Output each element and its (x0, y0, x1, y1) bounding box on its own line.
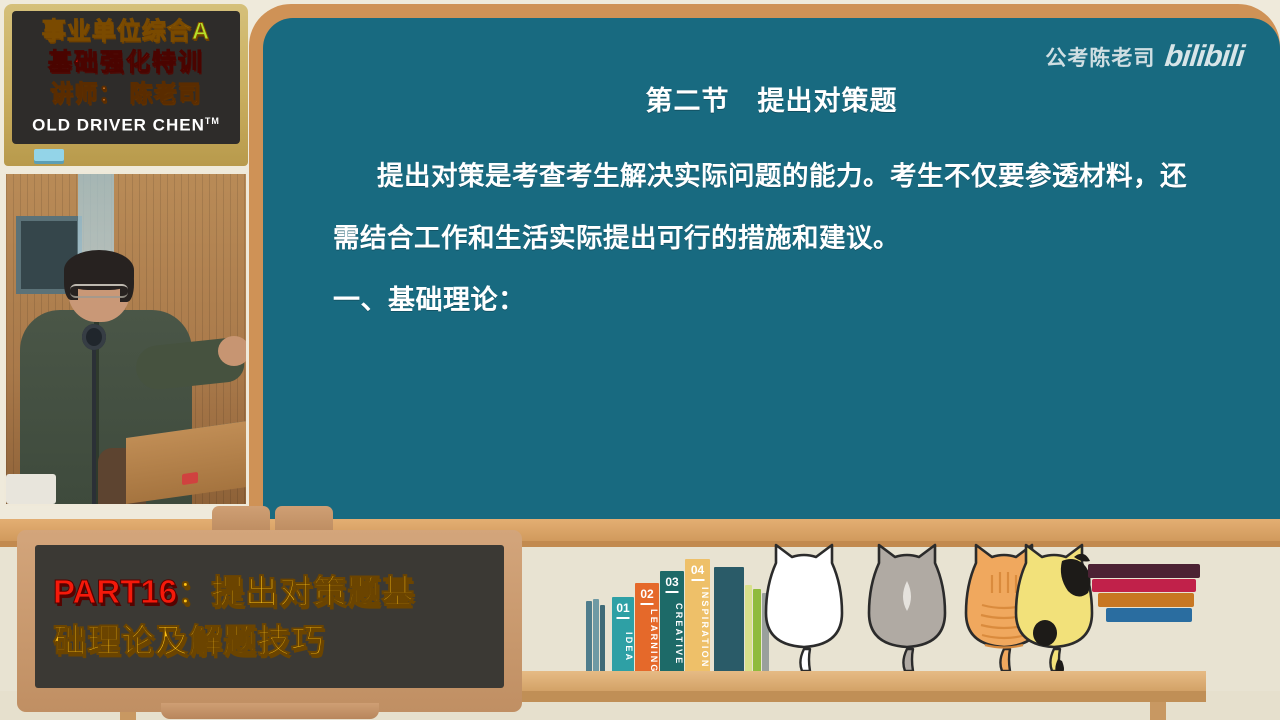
microphone-stand (92, 342, 96, 506)
book-rule (666, 591, 679, 593)
banner-course-name: 事业单位综合 (42, 18, 192, 45)
book-title: INSPIRATION (700, 587, 710, 669)
thin-book (600, 605, 605, 671)
book-stack (1088, 0, 1208, 671)
banner-surface: 事业单位综合A 基础强化特训 讲师： 陈老司 OLD DRIVER CHENTM (12, 11, 240, 144)
chalkboard-line-1-rest: 提出对策题基 (211, 573, 415, 610)
gray-cat (865, 541, 949, 671)
banner-line-1: 事业单位综合A (42, 17, 210, 47)
white-cat (762, 541, 846, 671)
chalkboard-colon: ： (177, 573, 211, 610)
instructor-glasses (70, 284, 128, 298)
instructor-hand (218, 336, 248, 366)
chalkboard-line-1: PART16：提出对策题基 (53, 567, 504, 616)
thin-book (714, 567, 744, 671)
chalkboard-part-label: PART16 (53, 573, 177, 610)
book-title: LEARNING (649, 609, 659, 674)
thin-book (753, 589, 761, 671)
thin-book (586, 601, 592, 671)
webcam-paper (6, 474, 56, 504)
book-number: 04 (691, 563, 704, 577)
stacked-book (1088, 564, 1200, 578)
book-number: 03 (665, 575, 678, 589)
instructor-webcam (4, 172, 248, 506)
microphone-icon (82, 324, 106, 350)
banner-line-3: 讲师： 陈老司 (50, 78, 201, 109)
shelf-book: 04INSPIRATION (685, 559, 710, 671)
topic-chalkboard: PART16：提出对策题基 础理论及解题技巧 (17, 530, 522, 712)
shelf-book: 01IDEA (612, 597, 634, 671)
banner-course-grade: A (192, 18, 210, 45)
calico-cat (1012, 541, 1096, 671)
course-banner: 事业单位综合A 基础强化特训 讲师： 陈老司 OLD DRIVER CHENTM (4, 4, 248, 166)
thin-book (745, 585, 752, 671)
banner-line-4: OLD DRIVER CHENTM (32, 109, 220, 138)
stacked-book (1092, 579, 1196, 592)
chalkboard-line-2: 础理论及解题技巧 (53, 616, 504, 665)
book-rule (691, 579, 704, 581)
eraser-icon (34, 149, 64, 161)
desk-leg-right (1150, 702, 1166, 720)
shelf-book: 02LEARNING (635, 583, 659, 671)
book-number: 01 (616, 601, 629, 615)
webcam-podium-badge (182, 472, 198, 485)
chalkboard-surface: PART16：提出对策题基 础理论及解题技巧 (35, 545, 504, 688)
book-number: 02 (640, 587, 653, 601)
shelf-book: 03CREATIVE (660, 571, 684, 671)
book-rule (617, 617, 630, 619)
thin-book (593, 599, 599, 671)
book-title: IDEA (624, 632, 634, 662)
book-rule (641, 603, 654, 605)
banner-english-name: OLD DRIVER CHEN (32, 116, 205, 135)
banner-line-2: 基础强化特训 (48, 47, 204, 78)
banner-trademark: TM (205, 116, 220, 126)
book-title: CREATIVE (674, 603, 684, 665)
chalkboard-tray (161, 703, 379, 719)
classroom-scene: 第二节 提出对策题 提出对策是考查考生解决实际问题的能力。考生不仅要参透材料，还… (0, 0, 1280, 720)
stacked-book (1106, 608, 1192, 622)
stacked-book (1098, 593, 1194, 607)
